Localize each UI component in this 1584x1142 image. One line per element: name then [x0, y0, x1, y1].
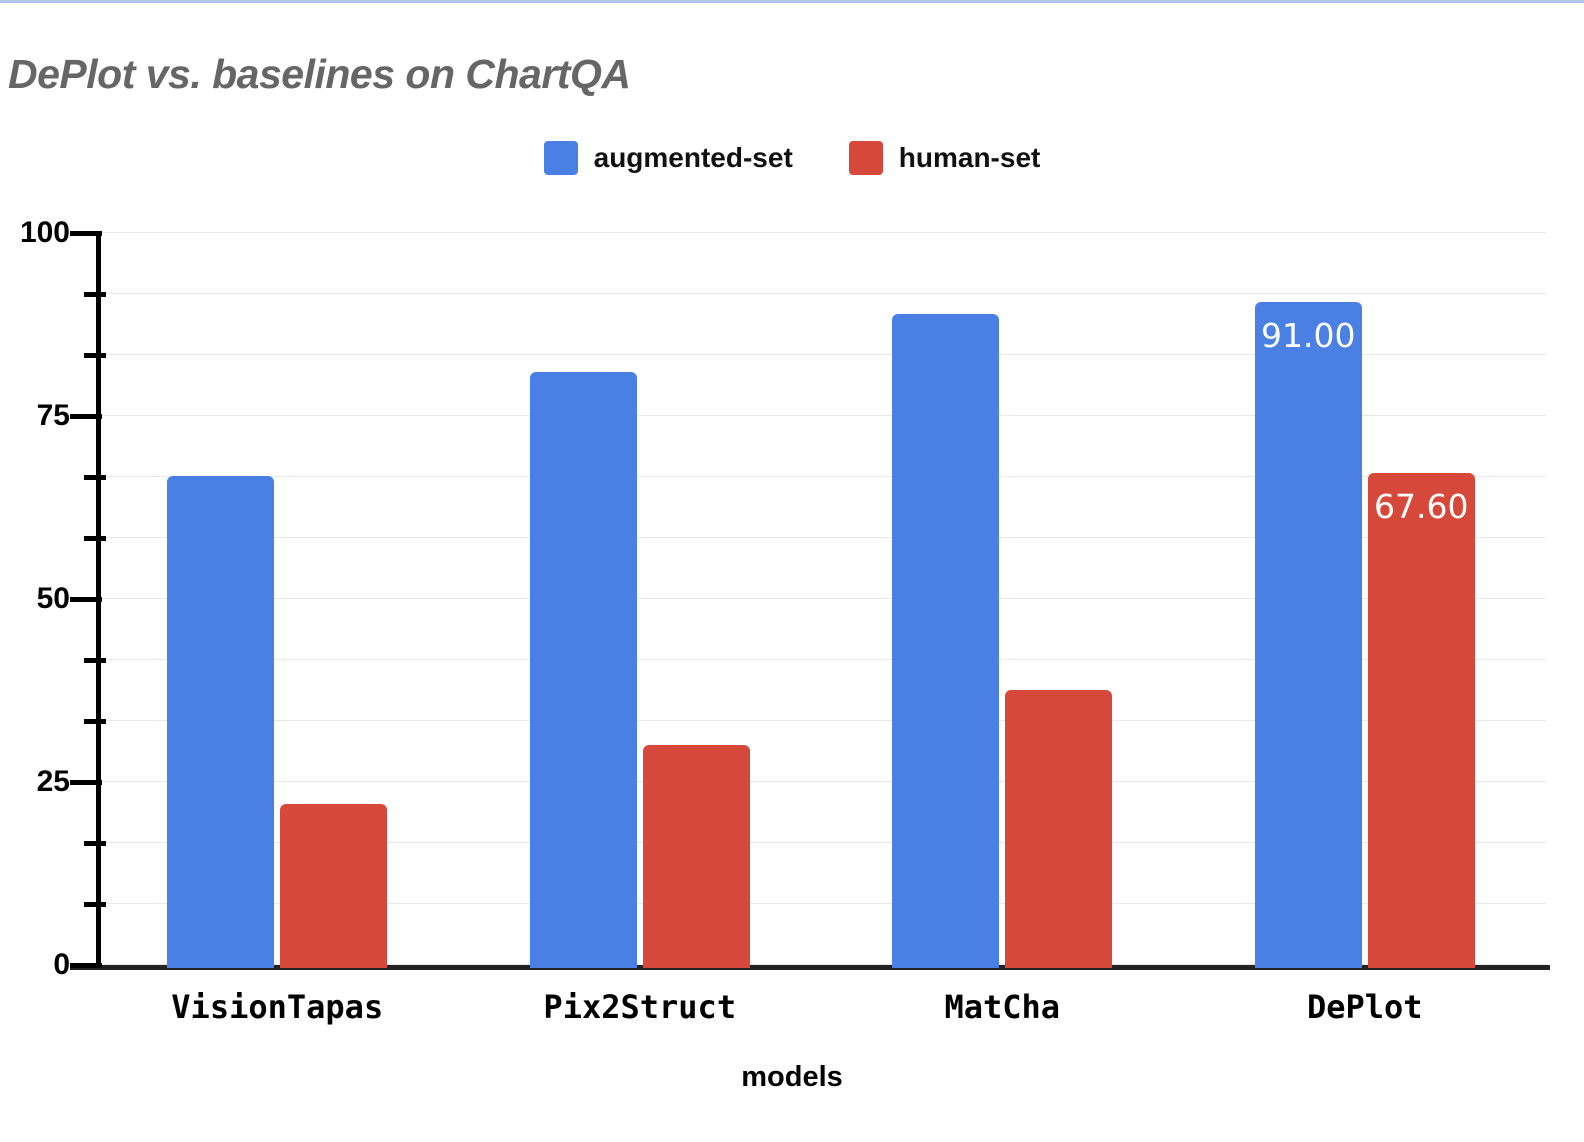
legend-swatch-augmented-set	[544, 141, 578, 175]
legend-item-human-set[interactable]: human-set	[849, 141, 1041, 175]
legend-label-human-set: human-set	[899, 142, 1041, 174]
bar-group: 91.0067.60	[1255, 236, 1475, 968]
bar-group	[530, 236, 750, 968]
legend-swatch-human-set	[849, 141, 883, 175]
x-axis-label-pix2struct: Pix2Struct	[543, 988, 736, 1026]
bar-value-label: 91.00	[1255, 316, 1362, 355]
bar-series-container: 91.0067.60	[96, 233, 1546, 968]
x-axis-label-deplot: DePlot	[1307, 988, 1423, 1026]
chart-title: DePlot vs. baselines on ChartQA	[8, 51, 630, 98]
bar-pix2struct-augmented-set[interactable]	[530, 372, 637, 968]
y-axis-tick-label: 25	[37, 765, 70, 799]
chart-legend: augmented-set human-set	[0, 141, 1584, 175]
bar-deplot-human-set[interactable]: 67.60	[1368, 473, 1475, 968]
bar-visiontapas-augmented-set[interactable]	[167, 476, 274, 968]
y-axis-tick-label: 100	[20, 216, 70, 250]
bar-matcha-human-set[interactable]	[1005, 690, 1112, 968]
bar-visiontapas-human-set[interactable]	[280, 804, 387, 968]
bar-value-label: 67.60	[1368, 487, 1475, 526]
bar-group	[892, 236, 1112, 968]
bar-deplot-augmented-set[interactable]: 91.00	[1255, 302, 1362, 968]
bar-pix2struct-human-set[interactable]	[643, 745, 750, 968]
y-axis-tick-label: 0	[53, 948, 70, 982]
bar-matcha-augmented-set[interactable]	[892, 314, 999, 968]
bar-group	[167, 236, 387, 968]
y-axis-tick-label: 75	[37, 399, 70, 433]
x-axis-label-matcha: MatCha	[944, 988, 1060, 1026]
x-axis-title: models	[0, 1061, 1584, 1094]
chart-container: DePlot vs. baselines on ChartQA augmente…	[0, 3, 1584, 1142]
legend-item-augmented-set[interactable]: augmented-set	[544, 141, 793, 175]
y-axis-tick-label: 50	[37, 582, 70, 616]
x-axis-label-visiontapas: VisionTapas	[171, 988, 383, 1026]
legend-label-augmented-set: augmented-set	[594, 142, 793, 174]
